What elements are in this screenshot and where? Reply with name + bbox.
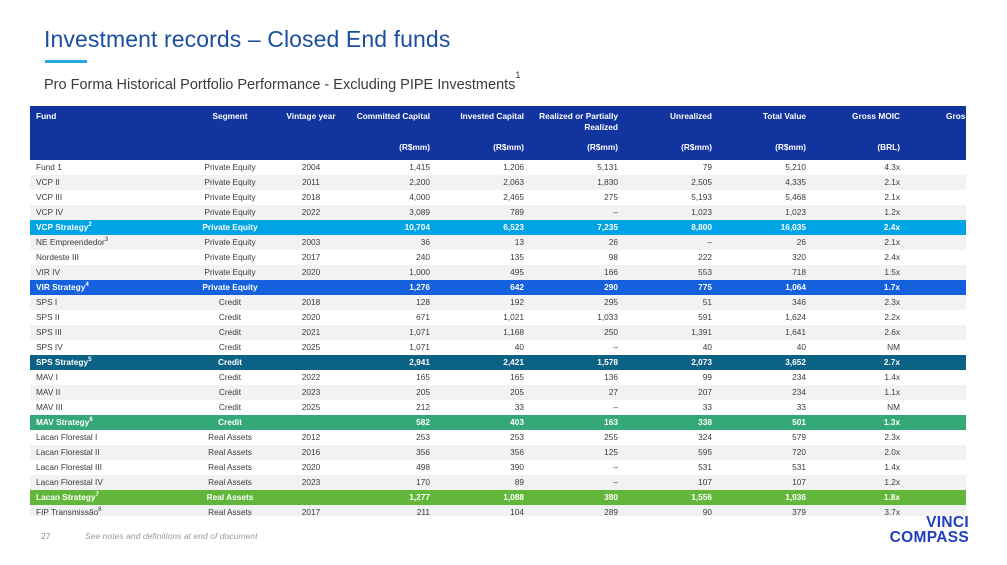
cell-1: Credit — [180, 325, 280, 340]
performance-table-container: FundSegmentVintage yearCommitted Capital… — [30, 106, 966, 516]
cell-6: 207 — [624, 385, 718, 400]
cell-3: 498 — [342, 460, 436, 475]
cell-1: Private Equity — [180, 160, 280, 175]
column-unit-9: (USD) — [906, 137, 966, 160]
cell-2: 2016 — [280, 445, 342, 460]
cell-4: 33 — [436, 400, 530, 415]
cell-0: Lacan Florestal III — [30, 460, 180, 475]
cell-6: 1,556 — [624, 490, 718, 505]
cell-7: 720 — [718, 445, 812, 460]
table-row[interactable]: VCP IIPrivate Equity20112,2002,0631,8302… — [30, 175, 966, 190]
table-row-strategy-total[interactable]: MAV Strategy6Credit5824031633385011.3x1.… — [30, 415, 966, 430]
cell-4: 789 — [436, 205, 530, 220]
cell-0: SPS I — [30, 295, 180, 310]
cell-8: 1.8x — [812, 490, 906, 505]
cell-7: 3,652 — [718, 355, 812, 370]
cell-5: 289 — [530, 505, 624, 516]
cell-1: Private Equity — [180, 190, 280, 205]
cell-1: Credit — [180, 370, 280, 385]
cell-5: 136 — [530, 370, 624, 385]
cell-7: 501 — [718, 415, 812, 430]
table-row[interactable]: Lacan Florestal IReal Assets201225325325… — [30, 430, 966, 445]
cell-5: 125 — [530, 445, 624, 460]
column-unit-6: (R$mm) — [624, 137, 718, 160]
cell-7: 1,064 — [718, 280, 812, 295]
subtitle-text: Pro Forma Historical Portfolio Performan… — [44, 77, 515, 93]
cell-2: 2025 — [280, 400, 342, 415]
table-row[interactable]: Lacan Florestal IIIReal Assets2020498390… — [30, 460, 966, 475]
cell-7: 16,035 — [718, 220, 812, 235]
cell-8: 1.4x — [812, 460, 906, 475]
cell-0: VCP II — [30, 175, 180, 190]
cell-8: 2.1x — [812, 235, 906, 250]
table-row-strategy-total[interactable]: VCP Strategy2Private Equity10,7046,5237,… — [30, 220, 966, 235]
cell-2: 2003 — [280, 235, 342, 250]
cell-4: 1,206 — [436, 160, 530, 175]
page-subtitle: Pro Forma Historical Portfolio Performan… — [44, 77, 520, 93]
cell-9: 1.2x — [906, 415, 966, 430]
cell-0: Nordeste III — [30, 250, 180, 265]
cell-8: 2.0x — [812, 445, 906, 460]
column-header-2[interactable]: Vintage year — [280, 106, 342, 137]
cell-2: 2023 — [280, 475, 342, 490]
title-accent-rule — [45, 60, 87, 63]
table-body: Fund 1Private Equity20041,4151,2065,1317… — [30, 160, 966, 516]
column-header-7[interactable]: Total Value — [718, 106, 812, 137]
table-row[interactable]: Nordeste IIIPrivate Equity20172401359822… — [30, 250, 966, 265]
cell-5: 166 — [530, 265, 624, 280]
cell-0: Lacan Florestal II — [30, 445, 180, 460]
cell-5: 98 — [530, 250, 624, 265]
cell-4: 205 — [436, 385, 530, 400]
cell-8: 2.3x — [812, 295, 906, 310]
cell-1: Real Assets — [180, 430, 280, 445]
cell-0: VCP Strategy2 — [30, 220, 180, 235]
cell-3: 36 — [342, 235, 436, 250]
column-unit-1 — [180, 137, 280, 160]
table-row[interactable]: Lacan Florestal IVReal Assets202317089–1… — [30, 475, 966, 490]
cell-8: NM — [812, 340, 906, 355]
table-row-strategy-total[interactable]: SPS Strategy5Credit2,9412,4211,5782,0733… — [30, 355, 966, 370]
table-row[interactable]: VCP IVPrivate Equity20223,089789–1,0231,… — [30, 205, 966, 220]
cell-5: 1,830 — [530, 175, 624, 190]
cell-0: SPS Strategy5 — [30, 355, 180, 370]
cell-2: 2017 — [280, 505, 342, 516]
cell-7: 379 — [718, 505, 812, 516]
cell-2 — [280, 415, 342, 430]
cell-7: 531 — [718, 460, 812, 475]
footnote-marker: 5 — [88, 356, 91, 363]
cell-1: Credit — [180, 415, 280, 430]
cell-9: 1.2x — [906, 460, 966, 475]
cell-0: VIR Strategy4 — [30, 280, 180, 295]
cell-6: 324 — [624, 430, 718, 445]
table-row[interactable]: SPS ICredit2018128192295513462.3x1.8x25.… — [30, 295, 966, 310]
cell-2: 2022 — [280, 205, 342, 220]
cell-6: – — [624, 235, 718, 250]
cell-7: 33 — [718, 400, 812, 415]
cell-0: MAV III — [30, 400, 180, 415]
cell-9: NM — [906, 400, 966, 415]
cell-2: 2022 — [280, 370, 342, 385]
cell-4: 89 — [436, 475, 530, 490]
cell-3: 205 — [342, 385, 436, 400]
cell-1: Credit — [180, 340, 280, 355]
cell-7: 1,641 — [718, 325, 812, 340]
cell-8: NM — [812, 400, 906, 415]
column-header-3[interactable]: Committed Capital — [342, 106, 436, 137]
cell-5: 255 — [530, 430, 624, 445]
cell-0: Lacan Florestal IV — [30, 475, 180, 490]
page-number: 27 — [41, 531, 50, 541]
cell-2: 2020 — [280, 265, 342, 280]
cell-7: 1,023 — [718, 205, 812, 220]
column-header-9[interactable]: Gross MOIC — [906, 106, 966, 137]
footnote-text: See notes and definitions at end of docu… — [85, 531, 257, 541]
cell-7: 234 — [718, 370, 812, 385]
cell-1: Private Equity — [180, 220, 280, 235]
cell-5: – — [530, 475, 624, 490]
cell-3: 3,089 — [342, 205, 436, 220]
performance-table: FundSegmentVintage yearCommitted Capital… — [30, 106, 966, 516]
column-header-4[interactable]: Invested Capital — [436, 106, 530, 137]
cell-0: VCP III — [30, 190, 180, 205]
cell-4: 165 — [436, 370, 530, 385]
cell-9: 1.0x — [906, 175, 966, 190]
footnote-marker: 4 — [85, 281, 88, 288]
table-row[interactable]: Lacan Florestal IIReal Assets20163563561… — [30, 445, 966, 460]
cell-4: 192 — [436, 295, 530, 310]
table-row[interactable]: NE Empreendedor3Private Equity2003361326… — [30, 235, 966, 250]
cell-7: 579 — [718, 430, 812, 445]
table-row[interactable]: MAV IIICredit202521233–3333NMNMNMNM — [30, 400, 966, 415]
footnote-marker: 6 — [89, 416, 92, 423]
cell-6: 5,193 — [624, 190, 718, 205]
cell-7: 1,936 — [718, 490, 812, 505]
cell-0: MAV II — [30, 385, 180, 400]
cell-7: 1,624 — [718, 310, 812, 325]
column-header-0[interactable]: Fund — [30, 106, 180, 137]
cell-3: 1,277 — [342, 490, 436, 505]
column-unit-7: (R$mm) — [718, 137, 812, 160]
cell-6: 33 — [624, 400, 718, 415]
cell-1: Private Equity — [180, 235, 280, 250]
cell-6: 2,073 — [624, 355, 718, 370]
cell-9: 2.4x — [906, 325, 966, 340]
cell-4: 1,168 — [436, 325, 530, 340]
cell-2 — [280, 280, 342, 295]
column-unit-8: (BRL) — [812, 137, 906, 160]
cell-9: 1.7x — [906, 250, 966, 265]
table-row[interactable]: SPS IIICredit20211,0711,1682501,3911,641… — [30, 325, 966, 340]
cell-5: 290 — [530, 280, 624, 295]
cell-8: 1.3x — [812, 415, 906, 430]
cell-2: 2012 — [280, 430, 342, 445]
cell-4: 2,421 — [436, 355, 530, 370]
column-header-5[interactable]: Realized or Partially Realized — [530, 106, 624, 137]
cell-2: 2020 — [280, 460, 342, 475]
cell-1: Real Assets — [180, 475, 280, 490]
cell-3: 1,071 — [342, 340, 436, 355]
cell-9: 1.2x — [906, 430, 966, 445]
cell-1: Real Assets — [180, 490, 280, 505]
column-header-6[interactable]: Unrealized — [624, 106, 718, 137]
column-unit-3: (R$mm) — [342, 137, 436, 160]
cell-3: 1,071 — [342, 325, 436, 340]
cell-5: 1,578 — [530, 355, 624, 370]
cell-3: 211 — [342, 505, 436, 516]
cell-2 — [280, 220, 342, 235]
cell-8: 4.3x — [812, 160, 906, 175]
cell-6: 40 — [624, 340, 718, 355]
cell-6: 775 — [624, 280, 718, 295]
cell-2: 2011 — [280, 175, 342, 190]
cell-1: Real Assets — [180, 505, 280, 516]
cell-3: 253 — [342, 430, 436, 445]
cell-4: 2,063 — [436, 175, 530, 190]
table-row-strategy-total[interactable]: Lacan Strategy7Real Assets1,2771,0883801… — [30, 490, 966, 505]
cell-0: FIP Transmissão8 — [30, 505, 180, 516]
table-row[interactable]: MAV IICredit2023205205272072341.1x1.2x18… — [30, 385, 966, 400]
cell-6: 90 — [624, 505, 718, 516]
cell-6: 51 — [624, 295, 718, 310]
cell-1: Credit — [180, 295, 280, 310]
cell-9: 2.1x — [906, 220, 966, 235]
cell-6: 531 — [624, 460, 718, 475]
cell-7: 346 — [718, 295, 812, 310]
cell-4: 135 — [436, 250, 530, 265]
cell-7: 4,335 — [718, 175, 812, 190]
cell-9: 1.3x — [906, 490, 966, 505]
cell-1: Real Assets — [180, 460, 280, 475]
subtitle-footnote-marker: 1 — [515, 70, 520, 80]
cell-9: 1.2x — [906, 385, 966, 400]
cell-0: MAV Strategy6 — [30, 415, 180, 430]
cell-6: 595 — [624, 445, 718, 460]
cell-5: 163 — [530, 415, 624, 430]
vinci-compass-logo: VINCI COMPASS — [890, 515, 969, 545]
cell-0: VCP IV — [30, 205, 180, 220]
cell-7: 107 — [718, 475, 812, 490]
logo-line-vinci: VINCI — [890, 515, 969, 530]
cell-6: 79 — [624, 160, 718, 175]
cell-9: 2.1x — [906, 310, 966, 325]
cell-6: 338 — [624, 415, 718, 430]
footnote-marker: 7 — [95, 491, 98, 498]
cell-3: 240 — [342, 250, 436, 265]
footnote-marker: 3 — [105, 236, 108, 243]
cell-2: 2025 — [280, 340, 342, 355]
cell-4: 253 — [436, 430, 530, 445]
cell-8: 1.2x — [812, 205, 906, 220]
column-unit-2 — [280, 137, 342, 160]
cell-1: Private Equity — [180, 250, 280, 265]
cell-5: 7,235 — [530, 220, 624, 235]
cell-6: 1,391 — [624, 325, 718, 340]
cell-8: 1.5x — [812, 265, 906, 280]
cell-3: 10,704 — [342, 220, 436, 235]
cell-2: 2020 — [280, 310, 342, 325]
cell-9: 2.4x — [906, 355, 966, 370]
cell-1: Credit — [180, 310, 280, 325]
cell-0: Lacan Florestal I — [30, 430, 180, 445]
cell-9: 1.5x — [906, 445, 966, 460]
column-unit-4: (R$mm) — [436, 137, 530, 160]
cell-5: 27 — [530, 385, 624, 400]
cell-5: – — [530, 400, 624, 415]
cell-7: 718 — [718, 265, 812, 280]
cell-3: 4,000 — [342, 190, 436, 205]
column-header-1[interactable]: Segment — [180, 106, 280, 137]
table-row[interactable]: VCP IIIPrivate Equity20184,0002,4652755,… — [30, 190, 966, 205]
cell-4: 1,021 — [436, 310, 530, 325]
logo-line-compass: COMPASS — [890, 530, 969, 545]
cell-1: Private Equity — [180, 280, 280, 295]
cell-6: 99 — [624, 370, 718, 385]
cell-2 — [280, 355, 342, 370]
cell-3: 2,941 — [342, 355, 436, 370]
cell-0: Fund 1 — [30, 160, 180, 175]
cell-7: 5,468 — [718, 190, 812, 205]
table-header-row-labels: FundSegmentVintage yearCommitted Capital… — [30, 106, 966, 137]
cell-4: 1,088 — [436, 490, 530, 505]
cell-9: 1.3x — [906, 370, 966, 385]
cell-8: 2.4x — [812, 220, 906, 235]
column-unit-5: (R$mm) — [530, 137, 624, 160]
cell-8: 2.2x — [812, 310, 906, 325]
cell-4: 403 — [436, 415, 530, 430]
table-row[interactable]: MAV ICredit2022165165136992341.4x1.3x18.… — [30, 370, 966, 385]
cell-8: 2.3x — [812, 430, 906, 445]
cell-9: 1.3x — [906, 280, 966, 295]
cell-2: 2004 — [280, 160, 342, 175]
cell-7: 320 — [718, 250, 812, 265]
column-unit-0 — [30, 137, 180, 160]
cell-0: Lacan Strategy7 — [30, 490, 180, 505]
cell-3: 1,276 — [342, 280, 436, 295]
cell-6: 1,023 — [624, 205, 718, 220]
cell-7: 40 — [718, 340, 812, 355]
cell-8: 1.4x — [812, 370, 906, 385]
cell-4: 495 — [436, 265, 530, 280]
cell-6: 8,800 — [624, 220, 718, 235]
cell-3: 2,200 — [342, 175, 436, 190]
cell-4: 40 — [436, 340, 530, 355]
cell-1: Private Equity — [180, 175, 280, 190]
cell-6: 107 — [624, 475, 718, 490]
cell-2: 2023 — [280, 385, 342, 400]
cell-5: – — [530, 205, 624, 220]
cell-7: 5,210 — [718, 160, 812, 175]
cell-8: 1.2x — [812, 475, 906, 490]
cell-4: 642 — [436, 280, 530, 295]
cell-7: 234 — [718, 385, 812, 400]
page-title: Investment records – Closed End funds — [44, 26, 450, 53]
cell-3: 212 — [342, 400, 436, 415]
cell-4: 104 — [436, 505, 530, 516]
cell-0: MAV I — [30, 370, 180, 385]
cell-9: 1.3x — [906, 265, 966, 280]
cell-3: 1,415 — [342, 160, 436, 175]
cell-6: 591 — [624, 310, 718, 325]
cell-4: 13 — [436, 235, 530, 250]
slide-root: Investment records – Closed End funds Pr… — [0, 0, 1007, 565]
cell-1: Credit — [180, 385, 280, 400]
footnote-marker: 8 — [98, 506, 101, 513]
cell-9: NM — [906, 340, 966, 355]
cell-2: 2021 — [280, 325, 342, 340]
cell-4: 6,523 — [436, 220, 530, 235]
cell-6: 2,505 — [624, 175, 718, 190]
cell-1: Credit — [180, 400, 280, 415]
cell-2 — [280, 490, 342, 505]
cell-5: 1,033 — [530, 310, 624, 325]
cell-7: 26 — [718, 235, 812, 250]
column-header-8[interactable]: Gross MOIC — [812, 106, 906, 137]
cell-6: 222 — [624, 250, 718, 265]
cell-9: 1.8x — [906, 295, 966, 310]
cell-8: 1.7x — [812, 280, 906, 295]
cell-8: 1.1x — [812, 385, 906, 400]
cell-5: 275 — [530, 190, 624, 205]
cell-4: 2,465 — [436, 190, 530, 205]
cell-9: 2.6x — [906, 235, 966, 250]
cell-8: 2.1x — [812, 175, 906, 190]
cell-3: 1,000 — [342, 265, 436, 280]
cell-1: Private Equity — [180, 205, 280, 220]
cell-1: Credit — [180, 355, 280, 370]
cell-8: 2.4x — [812, 250, 906, 265]
cell-8: 2.6x — [812, 325, 906, 340]
cell-0: SPS III — [30, 325, 180, 340]
cell-5: 26 — [530, 235, 624, 250]
cell-2: 2018 — [280, 295, 342, 310]
table-row-strategy-total[interactable]: VIR Strategy4Private Equity1,27664229077… — [30, 280, 966, 295]
cell-5: 380 — [530, 490, 624, 505]
cell-6: 553 — [624, 265, 718, 280]
table-row[interactable]: FIP Transmissão8Real Assets2017211104289… — [30, 505, 966, 516]
cell-8: 2.1x — [812, 190, 906, 205]
table-header-row-units: (R$mm)(R$mm)(R$mm)(R$mm)(R$mm)(BRL)(USD)… — [30, 137, 966, 160]
cell-5: – — [530, 340, 624, 355]
cell-0: SPS II — [30, 310, 180, 325]
cell-3: 170 — [342, 475, 436, 490]
cell-3: 128 — [342, 295, 436, 310]
cell-5: – — [530, 460, 624, 475]
cell-5: 5,131 — [530, 160, 624, 175]
cell-3: 165 — [342, 370, 436, 385]
cell-5: 295 — [530, 295, 624, 310]
cell-0: SPS IV — [30, 340, 180, 355]
cell-3: 356 — [342, 445, 436, 460]
cell-9: 1.2x — [906, 205, 966, 220]
table-row[interactable]: Fund 1Private Equity20041,4151,2065,1317… — [30, 160, 966, 175]
cell-1: Private Equity — [180, 265, 280, 280]
cell-3: 671 — [342, 310, 436, 325]
cell-4: 390 — [436, 460, 530, 475]
cell-1: Real Assets — [180, 445, 280, 460]
cell-9: 1.7x — [906, 190, 966, 205]
table-row[interactable]: SPS IICredit20206711,0211,0335911,6242.2… — [30, 310, 966, 325]
cell-4: 356 — [436, 445, 530, 460]
cell-2: 2017 — [280, 250, 342, 265]
table-row[interactable]: SPS IVCredit20251,07140–4040NMNMNMNM — [30, 340, 966, 355]
cell-8: 2.7x — [812, 355, 906, 370]
footnote-marker: 2 — [88, 221, 91, 228]
table-row[interactable]: VIR IVPrivate Equity20201,00049516655371… — [30, 265, 966, 280]
cell-3: 582 — [342, 415, 436, 430]
cell-5: 250 — [530, 325, 624, 340]
